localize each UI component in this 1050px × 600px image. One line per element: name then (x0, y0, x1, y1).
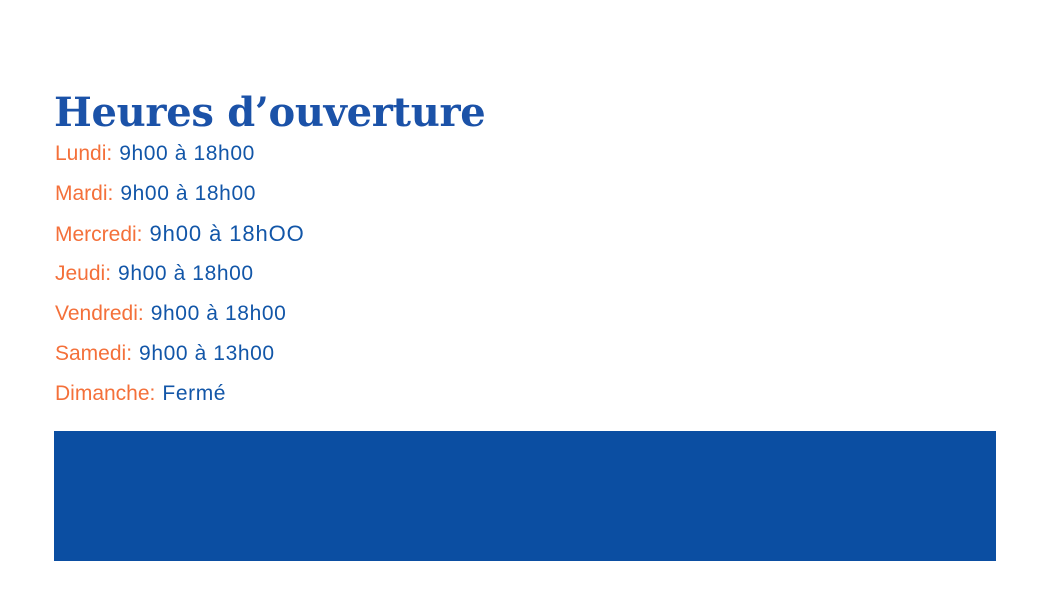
day-label: Samedi: (55, 342, 132, 365)
list-item: Lundi:9h00 à 18h00 (55, 134, 305, 174)
day-label: Jeudi: (55, 262, 111, 285)
day-hours: 9h00 à 18hOO (150, 221, 305, 246)
list-item: Vendredi:9h00 à 18h00 (55, 294, 305, 334)
list-item: Mardi:9h00 à 18h00 (55, 174, 305, 214)
day-label: Vendredi: (55, 302, 144, 325)
day-label: Mercredi: (55, 223, 143, 246)
banner-block (54, 431, 996, 561)
list-item: Jeudi:9h00 à 18h00 (55, 254, 305, 294)
page-title: Heures d’ouverture (54, 89, 485, 137)
opening-hours-list: Lundi:9h00 à 18h00 Mardi:9h00 à 18h00 Me… (55, 134, 305, 414)
day-hours: 9h00 à 13h00 (139, 342, 275, 365)
day-label: Lundi: (55, 142, 112, 165)
day-hours: 9h00 à 18h00 (120, 182, 256, 205)
slide-canvas: Heures d’ouverture Lundi:9h00 à 18h00 Ma… (0, 0, 1050, 600)
day-hours: Fermé (162, 382, 226, 405)
day-hours: 9h00 à 18h00 (118, 262, 254, 285)
day-label: Mardi: (55, 182, 113, 205)
list-item: Samedi:9h00 à 13h00 (55, 334, 305, 374)
list-item: Dimanche:Fermé (55, 374, 305, 414)
list-item: Mercredi:9h00 à 18hOO (55, 214, 305, 254)
day-hours: 9h00 à 18h00 (119, 142, 255, 165)
day-label: Dimanche: (55, 382, 155, 405)
day-hours: 9h00 à 18h00 (151, 302, 287, 325)
